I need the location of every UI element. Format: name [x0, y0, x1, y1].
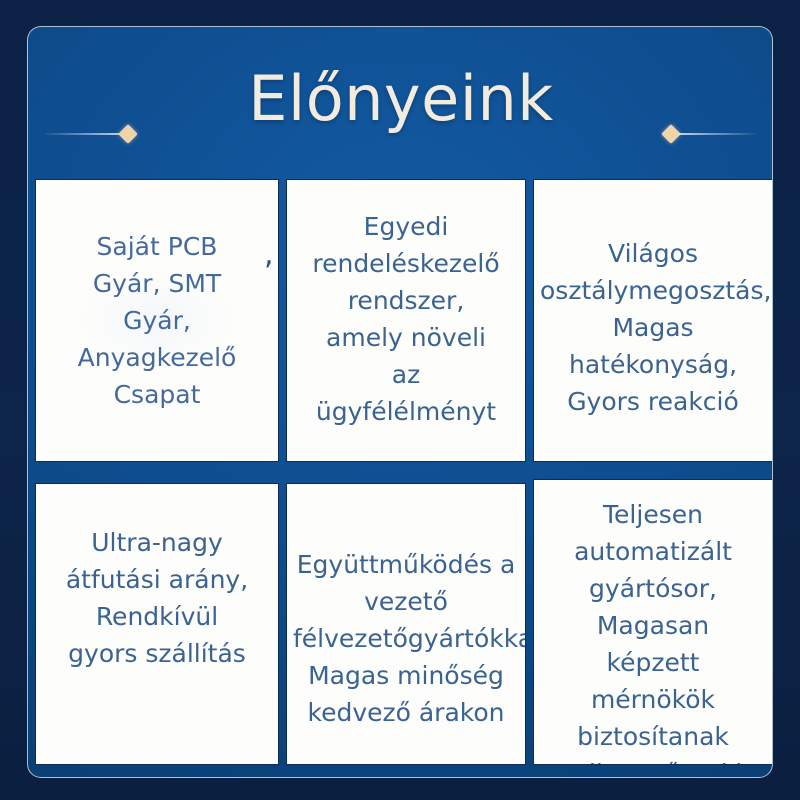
feature-card-1[interactable]: Saját PCB Gyár, SMT Gyár, Anyagkezelő Cs… — [35, 179, 279, 462]
feature-card-2-text: Egyedi rendeléskezelő rendszer, amely nö… — [293, 208, 519, 430]
feature-card-5-text: Együttműködés a vezető félvezetőgyártókk… — [293, 546, 519, 731]
diamond-ornament-right — [646, 123, 756, 145]
feature-card-6-text: Teljesen automatizált gyártósor, Magasan… — [540, 496, 766, 765]
feature-card-3[interactable]: Világos osztálymegosztás, Magas hatékony… — [533, 179, 773, 462]
content-panel: Előnyeink Saját PCB Gyár, SMT Gyár, Anya… — [27, 26, 773, 778]
feature-card-4-text: Ultra-nagy átfutási arány, Rendkívül gyo… — [42, 524, 272, 672]
feature-card-6[interactable]: Teljesen automatizált gyártósor, Magasan… — [533, 479, 773, 765]
stray-comma-artifact: , — [264, 240, 274, 270]
feature-card-4[interactable]: Ultra-nagy átfutási arány, Rendkívül gyo… — [35, 483, 279, 765]
ornament-line-right — [678, 133, 756, 135]
feature-card-2[interactable]: Egyedi rendeléskezelő rendszer, amely nö… — [286, 179, 526, 462]
feature-card-3-text: Világos osztálymegosztás, Magas hatékony… — [540, 235, 766, 420]
header: Előnyeink — [28, 27, 773, 177]
feature-card-5[interactable]: Együttműködés a vezető félvezetőgyártókk… — [286, 483, 526, 765]
poster-root: Előnyeink Saját PCB Gyár, SMT Gyár, Anya… — [0, 0, 800, 800]
feature-card-1-text: Saját PCB Gyár, SMT Gyár, Anyagkezelő Cs… — [42, 228, 272, 413]
